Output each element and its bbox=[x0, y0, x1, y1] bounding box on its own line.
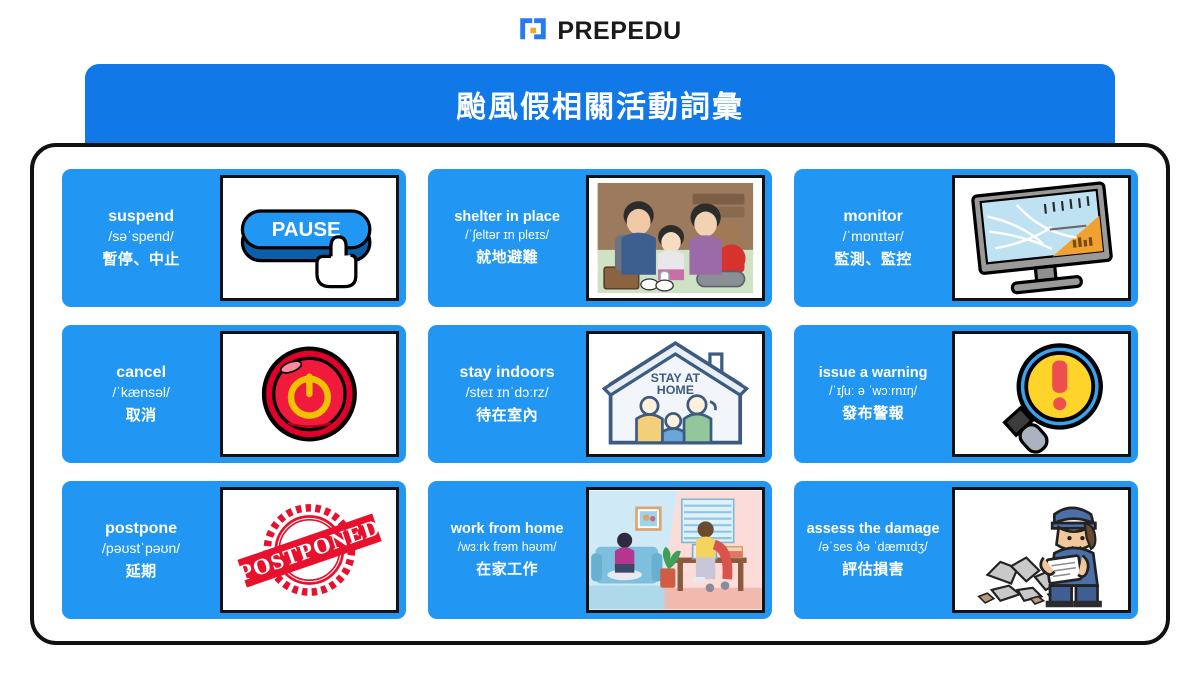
vocab-card-text: assess the damage /əˈses ðə ˈdæmɪdʒ/ 評估損… bbox=[794, 481, 952, 619]
vocab-card-issue-a-warning[interactable]: issue a warning /ˈɪʃuː ə ˈwɔːrnɪŋ/ 發布警報 bbox=[794, 325, 1138, 463]
brand-name: PREPEDU bbox=[557, 17, 681, 46]
vocab-card-text: monitor /ˈmɒnɪtər/ 監測、監控 bbox=[794, 169, 952, 307]
vocab-card-text: stay indoors /steɪ ɪnˈdɔːrz/ 待在室內 bbox=[428, 325, 586, 463]
stay-at-home-label-line2: HOME bbox=[657, 383, 694, 397]
vocab-ipa: /pəʊstˈpəʊn/ bbox=[102, 540, 180, 556]
pause-label: PAUSE bbox=[272, 218, 341, 241]
vocabulary-board: suspend /səˈspend/ 暫停、中止 PAUSE bbox=[30, 143, 1170, 645]
vocab-word: shelter in place bbox=[454, 209, 560, 225]
vocab-word: work from home bbox=[451, 521, 564, 537]
vocab-card-stay-indoors[interactable]: stay indoors /steɪ ɪnˈdɔːrz/ 待在室內 STAY A… bbox=[428, 325, 772, 463]
vocab-ipa: /ˈmɒnɪtər/ bbox=[843, 228, 904, 244]
brand-bar: PREPEDU bbox=[0, 0, 1200, 62]
vocab-ipa: /əˈses ðə ˈdæmɪdʒ/ bbox=[819, 540, 928, 554]
vocab-card-text: cancel /ˈkænsəl/ 取消 bbox=[62, 325, 220, 463]
vocab-card-postpone[interactable]: postpone /pəʊstˈpəʊn/ 延期 POSTPONED bbox=[62, 481, 406, 619]
vocab-ipa: /wɜːrk frəm həʊm/ bbox=[458, 540, 557, 554]
vocab-word: suspend bbox=[108, 208, 174, 226]
vocab-translation: 暫停、中止 bbox=[102, 248, 180, 269]
vocab-card-suspend[interactable]: suspend /səˈspend/ 暫停、中止 PAUSE bbox=[62, 169, 406, 307]
vocab-word: issue a warning bbox=[819, 365, 928, 381]
prepedu-logo-icon bbox=[518, 16, 548, 46]
vocab-word: stay indoors bbox=[460, 364, 555, 382]
vocab-translation: 監測、監控 bbox=[834, 248, 912, 269]
vocab-card-text: suspend /səˈspend/ 暫停、中止 bbox=[62, 169, 220, 307]
vocab-card-text: issue a warning /ˈɪʃuː ə ˈwɔːrnɪŋ/ 發布警報 bbox=[794, 325, 952, 463]
postponed-stamp-illustration: POSTPONED bbox=[220, 487, 399, 613]
vocab-word: monitor bbox=[843, 208, 903, 226]
vocab-card-work-from-home[interactable]: work from home /wɜːrk frəm həʊm/ 在家工作 bbox=[428, 481, 772, 619]
vocab-translation: 評估損害 bbox=[842, 558, 904, 579]
page-title: 颱風假相關活動詞彙 bbox=[456, 82, 744, 126]
vocab-card-shelter-in-place[interactable]: shelter in place /ˈʃeltər ɪn pleɪs/ 就地避難 bbox=[428, 169, 772, 307]
vocabulary-grid: suspend /səˈspend/ 暫停、中止 PAUSE bbox=[62, 169, 1138, 619]
header-banner: 颱風假相關活動詞彙 bbox=[85, 64, 1115, 144]
vocab-word: postpone bbox=[105, 520, 177, 538]
vocab-ipa: /ˈʃeltər ɪn pleɪs/ bbox=[465, 228, 549, 242]
vocab-card-monitor[interactable]: monitor /ˈmɒnɪtər/ 監測、監控 bbox=[794, 169, 1138, 307]
computer-monitor-illustration bbox=[952, 175, 1131, 301]
vocab-word: assess the damage bbox=[807, 521, 940, 537]
vocab-translation: 在家工作 bbox=[476, 558, 538, 579]
vocab-translation: 取消 bbox=[126, 404, 157, 425]
pause-button-illustration: PAUSE bbox=[220, 175, 399, 301]
vocab-card-text: shelter in place /ˈʃeltər ɪn pleɪs/ 就地避難 bbox=[428, 169, 586, 307]
work-from-home-illustration bbox=[586, 487, 765, 613]
vocab-ipa: /steɪ ɪnˈdɔːrz/ bbox=[466, 384, 549, 400]
vocab-ipa: /ˈkænsəl/ bbox=[112, 384, 170, 400]
vocab-translation: 待在室內 bbox=[476, 404, 538, 425]
vocab-card-cancel[interactable]: cancel /ˈkænsəl/ 取消 bbox=[62, 325, 406, 463]
vocab-ipa: /səˈspend/ bbox=[108, 228, 173, 244]
vocab-translation: 就地避難 bbox=[476, 246, 538, 267]
vocab-card-text: work from home /wɜːrk frəm həʊm/ 在家工作 bbox=[428, 481, 586, 619]
family-shelter-illustration bbox=[586, 175, 765, 301]
vocab-card-text: postpone /pəʊstˈpəʊn/ 延期 bbox=[62, 481, 220, 619]
vocab-word: cancel bbox=[116, 364, 166, 382]
warning-magnifier-illustration bbox=[952, 331, 1131, 457]
stay-at-home-house-illustration: STAY AT HOME bbox=[586, 331, 765, 457]
vocab-ipa: /ˈɪʃuː ə ˈwɔːrnɪŋ/ bbox=[829, 384, 917, 398]
damage-assessment-illustration bbox=[952, 487, 1131, 613]
vocab-translation: 發布警報 bbox=[842, 402, 904, 423]
power-button-illustration bbox=[220, 331, 399, 457]
vocab-card-assess-the-damage[interactable]: assess the damage /əˈses ðə ˈdæmɪdʒ/ 評估損… bbox=[794, 481, 1138, 619]
vocab-translation: 延期 bbox=[126, 560, 157, 581]
